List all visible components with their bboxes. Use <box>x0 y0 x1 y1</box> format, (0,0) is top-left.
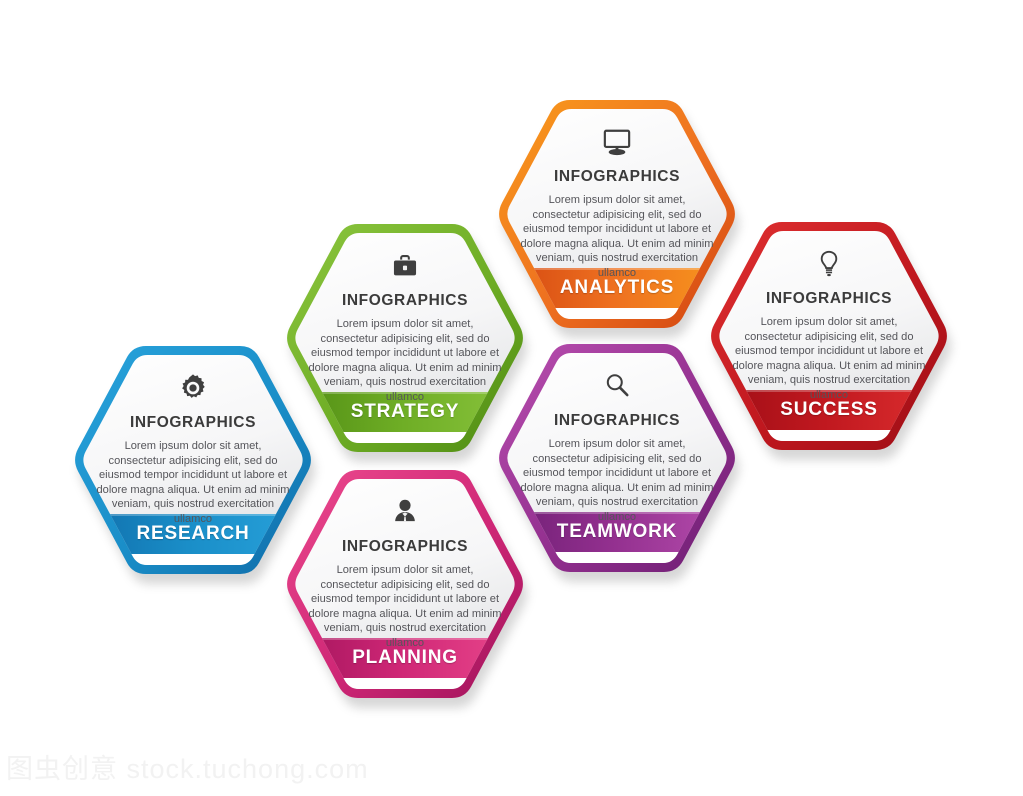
infographic-canvas: INFOGRAPHICSLorem ipsum dolor sit amet, … <box>0 0 1023 796</box>
hexagon-shape <box>704 218 954 454</box>
watermark: 图虫创意 stock.tuchong.com <box>6 747 369 786</box>
hexagon-success[interactable]: INFOGRAPHICSLorem ipsum dolor sit amet, … <box>704 218 954 454</box>
